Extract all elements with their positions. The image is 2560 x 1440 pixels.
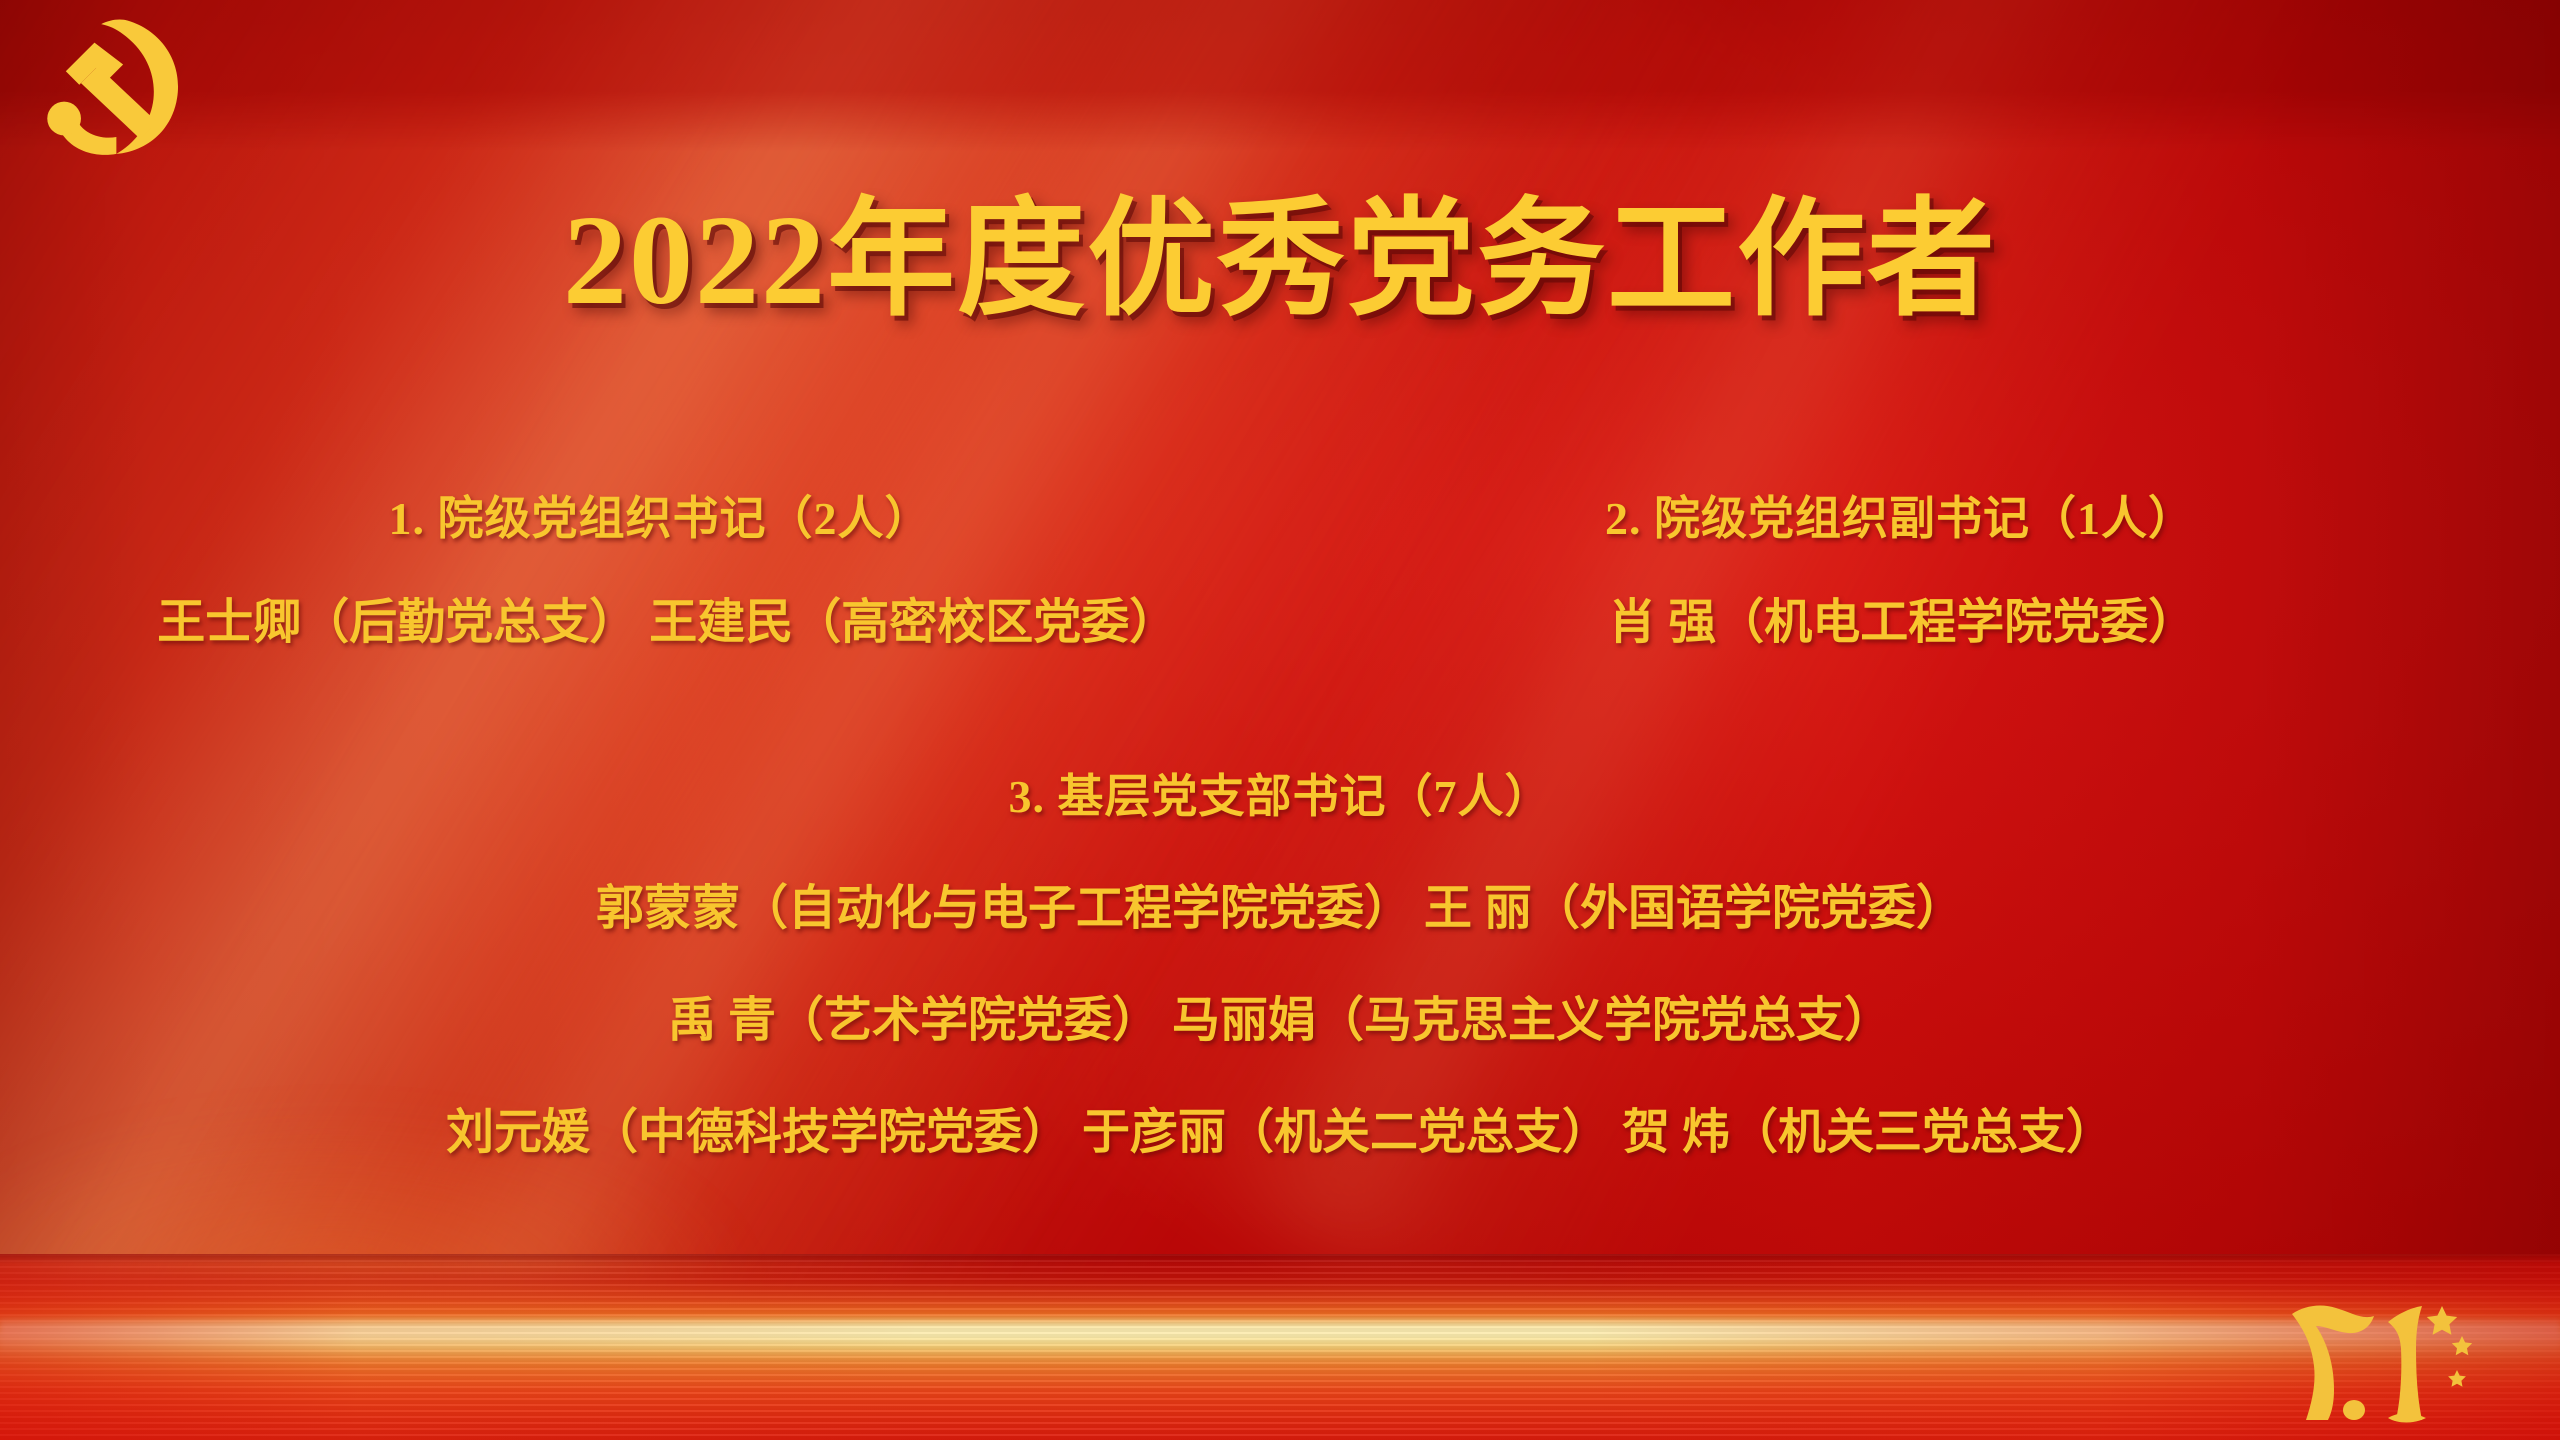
section-2-heading: 2. 院级党组织副书记（1人） — [1280, 482, 2520, 548]
cpc-emblem-icon — [28, 14, 198, 164]
section-3-names-line-2: 禹 青（艺术学院党委） 马丽娟（马克思主义学院党总支） — [0, 980, 2560, 1050]
section-3-heading: 3. 基层党支部书记（7人） — [0, 760, 2560, 826]
section-3-names-line-1: 郭蒙蒙（自动化与电子工程学院党委） 王 丽（外国语学院党委） — [0, 868, 2560, 938]
award-list: 1. 院级党组织书记（2人） 2. 院级党组织副书记（1人） 王士卿（后勤党总支… — [0, 430, 2560, 1162]
section-3-names-line-3: 刘元媛（中德科技学院党委） 于彦丽（机关二党总支） 贺 炜（机关三党总支） — [0, 1092, 2560, 1162]
seven-one-logo-icon — [2276, 1292, 2486, 1424]
slide-canvas: 2022年度优秀党务工作者 1. 院级党组织书记（2人） 2. 院级党组织副书记… — [0, 0, 2560, 1440]
ribbon-horizontal-shading — [0, 1254, 2560, 1440]
section-1-names: 王士卿（后勤党总支） 王建民（高密校区党委） — [0, 582, 1335, 652]
background-top-strip — [0, 0, 2560, 152]
section-2-names: 肖 强（机电工程学院党委） — [1335, 582, 2560, 652]
ribbon-top-edge — [0, 1254, 2560, 1264]
section-heading-row-top: 1. 院级党组织书记（2人） 2. 院级党组织副书记（1人） — [0, 482, 2560, 548]
section-names-row-top: 王士卿（后勤党总支） 王建民（高密校区党委） 肖 强（机电工程学院党委） — [0, 582, 2560, 652]
section-1-heading: 1. 院级党组织书记（2人） — [40, 482, 1280, 548]
bottom-ribbon-band — [0, 1254, 2560, 1440]
page-title: 2022年度优秀党务工作者 — [0, 196, 2560, 324]
